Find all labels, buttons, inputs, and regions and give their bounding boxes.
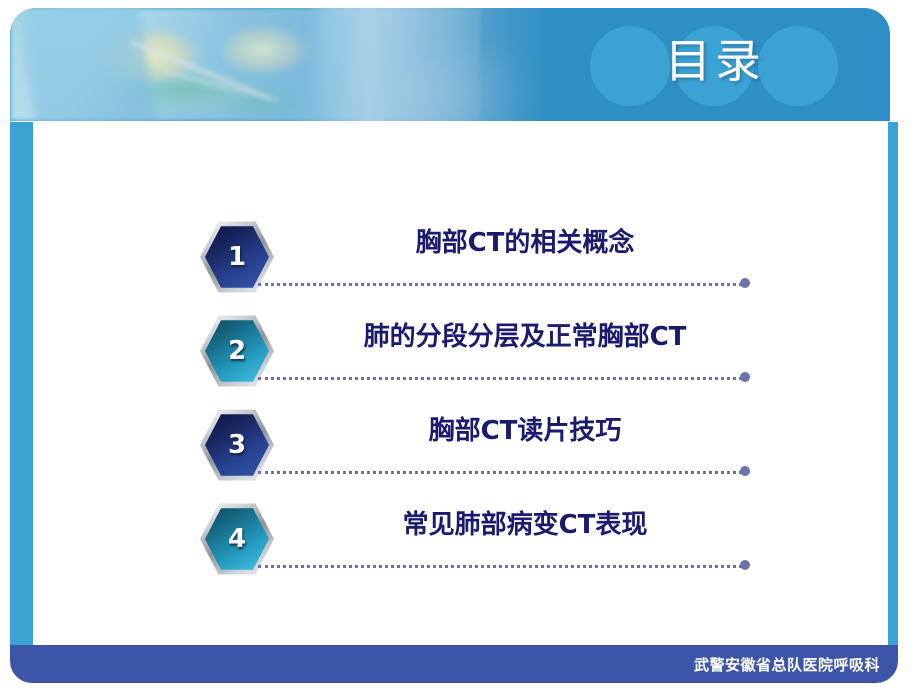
list-item[interactable]: 2 肺的分段分层及正常胸部CT	[0, 304, 920, 398]
hexagon-number: 2	[205, 319, 269, 383]
header-banner: 目录	[10, 8, 890, 121]
connector-end-dot	[740, 560, 750, 570]
footer-bar: 武警安徽省总队医院呼吸科	[10, 645, 898, 683]
hexagon-number: 3	[205, 413, 269, 477]
connector-dotted-line	[258, 471, 742, 474]
list-item-label: 胸部CT的相关概念	[290, 226, 760, 260]
photo-gradient-overlay	[10, 8, 650, 121]
connector-dotted-line	[258, 565, 742, 568]
footer-text: 武警安徽省总队医院呼吸科	[694, 655, 880, 675]
connector-dotted-line	[258, 377, 742, 380]
hexagon-number: 1	[205, 225, 269, 289]
page-title: 目录	[590, 35, 840, 87]
list-item[interactable]: 1 胸部CT的相关概念	[0, 210, 920, 304]
hexagon-number: 4	[205, 507, 269, 571]
connector-dotted-line	[258, 283, 742, 286]
list-item-label: 肺的分段分层及正常胸部CT	[290, 320, 760, 354]
list-item-label: 常见肺部病变CT表现	[290, 508, 760, 542]
connector-end-dot	[740, 278, 750, 288]
list-item-label: 胸部CT读片技巧	[290, 414, 760, 448]
list-item[interactable]: 4 常见肺部病变CT表现	[0, 492, 920, 586]
connector-end-dot	[740, 466, 750, 476]
list-item[interactable]: 3 胸部CT读片技巧	[0, 398, 920, 492]
table-of-contents: 1 胸部CT的相关概念 2 肺的分段分层及正常胸部CT 3 胸部CT读	[0, 210, 920, 586]
slide-canvas: 目录 1 胸部CT的相关概念 2 肺的分段分层及正常胸部CT	[0, 0, 920, 690]
connector-end-dot	[740, 372, 750, 382]
